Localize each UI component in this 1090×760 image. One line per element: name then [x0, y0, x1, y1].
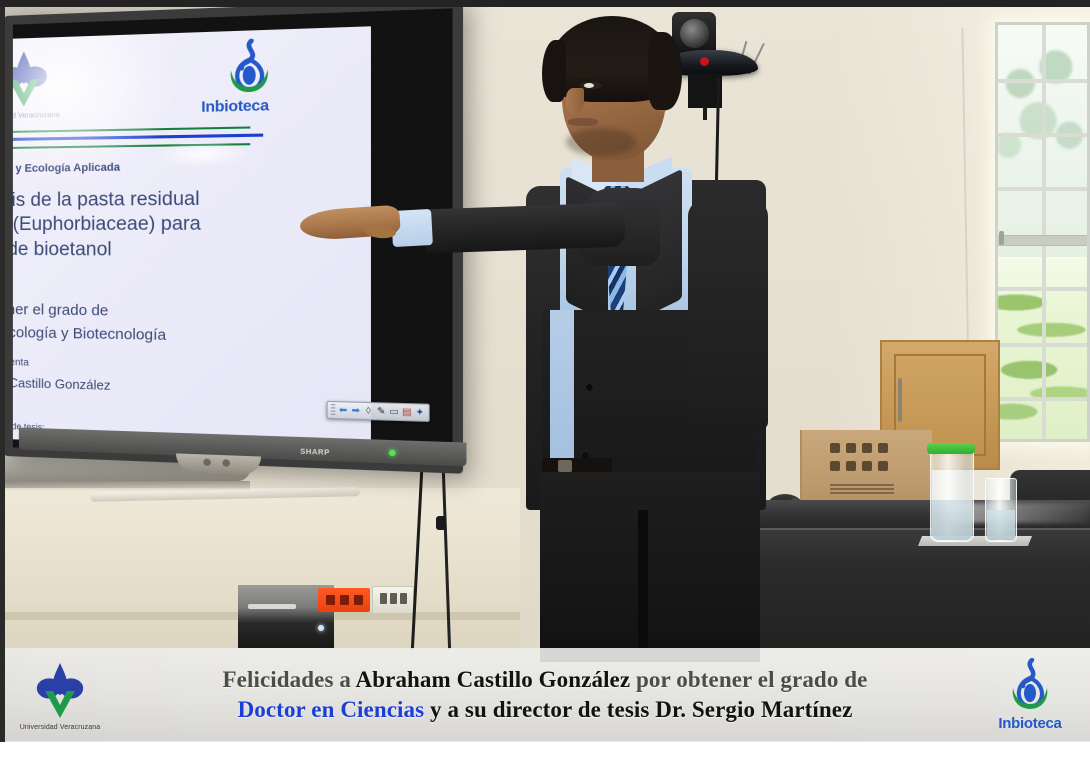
hair-tuft [542, 40, 566, 102]
exterior-window [995, 22, 1090, 442]
pen-icon[interactable]: ✎ [376, 405, 387, 418]
hair-tuft [648, 32, 682, 110]
pitcher-green-lid[interactable] [927, 443, 975, 454]
caption-text-block: Felicidades a Abraham Castillo González … [120, 665, 970, 726]
slide-title-line: ...rólisis de la pasta residual [13, 186, 335, 213]
uv-logo-icon [13, 47, 55, 111]
window-mullion-horizontal [998, 397, 1087, 401]
presenter [430, 10, 790, 660]
presentation-slide: Universidad Veracruzana Inbioteca ...olo… [13, 26, 371, 452]
presentation-photograph: Universidad Veracruzana Inbioteca ...olo… [0, 0, 1090, 742]
screenshot-frame: Universidad Veracruzana Inbioteca ...olo… [0, 0, 1090, 760]
window-sash [998, 235, 1087, 246]
wall-power-outlet[interactable] [372, 586, 414, 614]
uv-logo-icon [29, 660, 91, 722]
right-sleeve [688, 200, 768, 430]
box-handling-symbols [830, 443, 892, 477]
display-brand-label: SHARP [300, 449, 330, 457]
uv-logo-caption: Universidad Veracruzana [20, 724, 101, 731]
page-bottom-margin [0, 742, 1090, 760]
caption-banner: Universidad Veracruzana Felicidades a Ab… [0, 648, 1090, 742]
caption-uv-logo-block: Universidad Veracruzana [0, 660, 120, 731]
slide-glare-spot [155, 140, 250, 168]
inbioteca-logo-icon [225, 38, 274, 98]
screen-icon[interactable]: ▤ [402, 406, 413, 419]
display-power-led-icon [389, 450, 396, 457]
slide-presenta-label: Presenta [13, 357, 29, 369]
slide-rule-green [13, 126, 250, 133]
caption-inbioteca-logo-block: Inbioteca [970, 658, 1090, 732]
keyboard-icon[interactable]: ▭ [389, 405, 400, 418]
glass-water [987, 510, 1015, 540]
trousers [540, 472, 760, 662]
window-mullion-vertical [1042, 25, 1046, 439]
nose [566, 88, 584, 114]
cabinet-handle[interactable] [898, 378, 902, 422]
orange-power-outlet[interactable] [318, 588, 370, 612]
caption-graduate-name: Abraham Castillo González [356, 667, 631, 692]
mouth [568, 118, 598, 126]
window-mullion-horizontal [998, 343, 1087, 347]
tower-drive-slot[interactable] [248, 604, 296, 609]
slide-department: ...ología y Ecología Aplicada [13, 162, 120, 176]
slide-degree: ... obtener el grado de ... en Ecología … [13, 299, 335, 351]
jacket-button [586, 384, 593, 391]
belt-buckle [558, 460, 572, 472]
inbioteca-logo-icon [1007, 658, 1053, 714]
chin-shadow [566, 128, 636, 156]
caption-line-1: Felicidades a Abraham Castillo González … [120, 665, 970, 695]
trouser-seam [638, 510, 648, 660]
caption-line2-part2: y a su director de tesis Dr. Sergio Mart… [424, 697, 852, 722]
settings-icon[interactable]: ✦ [414, 406, 425, 419]
window-mullion-horizontal [998, 133, 1087, 137]
caption-line1-part2: por obtener el grado de [630, 667, 867, 692]
extended-left-arm [424, 203, 625, 254]
slide-author: ...ham Castillo González [13, 374, 111, 393]
window-latch[interactable] [999, 231, 1004, 245]
slide-title-line: ...ión de bioetanol [13, 238, 335, 264]
window-mullion-horizontal [998, 287, 1087, 291]
caption-degree: Doctor en Ciencias [238, 697, 425, 722]
forward-arrow-icon[interactable]: ➡ [350, 404, 360, 417]
photo-top-edge [0, 0, 1090, 7]
window-mullion-horizontal [998, 187, 1087, 191]
eye-highlight [584, 83, 594, 88]
water-pitcher[interactable] [930, 448, 974, 542]
slide-title: ...rólisis de la pasta residual ...s L. … [13, 186, 335, 263]
eraser-icon[interactable]: ◊ [363, 405, 374, 418]
water-glass[interactable] [985, 478, 1017, 542]
caption-line1-part1: Felicidades a [223, 667, 356, 692]
slide-degree-line: ... en Ecología y Biotecnología [13, 321, 335, 350]
inbioteca-wordmark: Inbioteca [998, 715, 1061, 732]
photo-left-edge [0, 0, 5, 742]
pitcher-water [932, 500, 972, 540]
caption-line-2: Doctor en Ciencias y a su director de te… [120, 695, 970, 725]
slide-title-line: ...s L. (Euphorbiaceae) para [13, 212, 335, 238]
toolbar-drag-handle[interactable] [331, 404, 336, 416]
box-label-text [830, 482, 894, 498]
window-mullion-horizontal [998, 79, 1087, 83]
slide-uv-caption: Universidad Veracruzana [13, 112, 60, 121]
back-arrow-icon[interactable]: ⬅ [338, 404, 348, 417]
slide-inbioteca-wordmark: Inbioteca [201, 97, 269, 116]
whiteboard-toolbar[interactable]: ⬅ ➡ ◊ ✎ ▭ ▤ ✦ [327, 401, 430, 422]
tower-power-led-icon [318, 625, 324, 631]
